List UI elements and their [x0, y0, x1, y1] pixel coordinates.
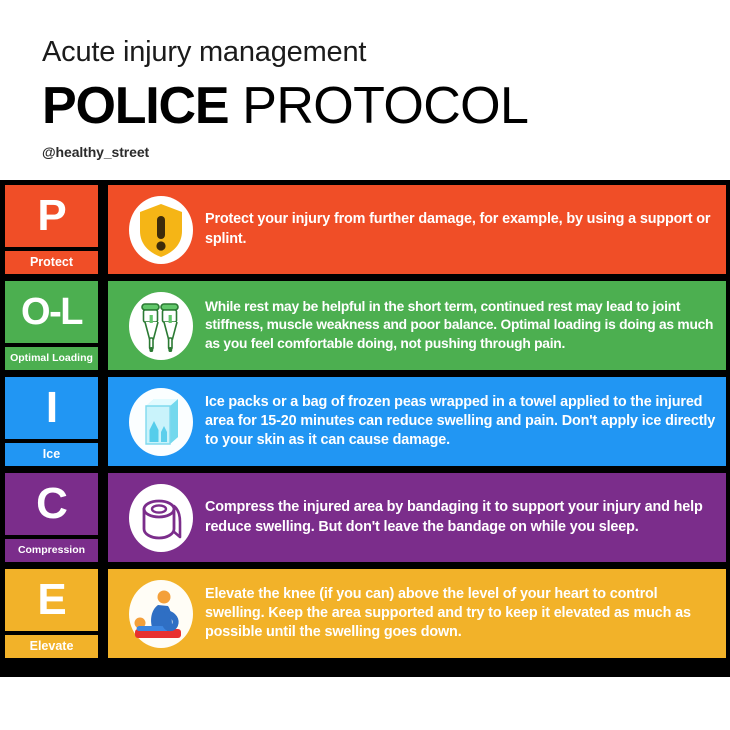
key-column-protect: P Protect: [5, 185, 98, 274]
content-panel-ice: Ice packs or a bag of frozen peas wrappe…: [108, 377, 726, 466]
content-panel-elevate: Elevate the knee (if you can) above the …: [108, 569, 726, 658]
poster-kicker: Acute injury management: [42, 38, 730, 67]
key-caption-ice: Ice: [43, 448, 60, 461]
content-panel-protect: Protect your injury from further damage,…: [108, 185, 726, 274]
content-text-ice: Ice packs or a bag of frozen peas wrappe…: [205, 393, 726, 450]
key-letter-ice: I: [46, 386, 57, 430]
key-column-elevate: E Elevate: [5, 569, 98, 658]
key-letter-elevate: E: [37, 578, 65, 622]
shield-warning-icon: [125, 193, 197, 267]
page-title-bold: POLICE: [42, 77, 228, 135]
poster-header: Acute injury management POLICE PROTOCOL …: [0, 0, 730, 180]
page-title: POLICE PROTOCOL: [42, 80, 730, 132]
key-caption-compression: Compression: [18, 545, 85, 556]
key-letter-compression: C: [36, 482, 67, 526]
key-caption-box-elevate: Elevate: [5, 635, 98, 658]
protocol-row-compression: C Compression Compress the injured a: [0, 473, 730, 562]
protocol-row-protect: P Protect Protect your injury from furth…: [0, 185, 730, 274]
key-caption-box-protect: Protect: [5, 251, 98, 274]
ice-cube-icon: [125, 385, 197, 459]
content-panel-optimal-loading: While rest may be helpful in the short t…: [108, 281, 726, 370]
key-caption-box-compression: Compression: [5, 539, 98, 562]
key-letter-box-protect: P: [5, 185, 98, 247]
key-letter-box-optimal-loading: O-L: [5, 281, 98, 343]
page-title-light: PROTOCOL: [228, 77, 528, 135]
content-panel-compression: Compress the injured area by bandaging i…: [108, 473, 726, 562]
protocol-row-elevate: E Elevate: [0, 569, 730, 658]
key-letter-optimal-loading: O-L: [21, 293, 82, 331]
bandage-roll-icon: [125, 481, 197, 555]
key-caption-box-ice: Ice: [5, 443, 98, 466]
key-column-ice: I Ice: [5, 377, 98, 466]
key-caption-box-optimal-loading: Optimal Loading: [5, 347, 98, 370]
protocol-rows-band: P Protect Protect your injury from furth…: [0, 180, 730, 677]
protocol-row-optimal-loading: O-L Optimal Loading: [0, 281, 730, 370]
key-caption-optimal-loading: Optimal Loading: [10, 353, 93, 364]
key-caption-elevate: Elevate: [30, 640, 74, 653]
content-text-protect: Protect your injury from further damage,…: [205, 210, 726, 248]
author-handle: @healthy_street: [42, 144, 730, 160]
content-text-optimal-loading: While rest may be helpful in the short t…: [205, 298, 726, 353]
key-column-optimal-loading: O-L Optimal Loading: [5, 281, 98, 370]
key-letter-protect: P: [37, 194, 65, 238]
content-text-compression: Compress the injured area by bandaging i…: [205, 498, 726, 536]
content-text-elevate: Elevate the knee (if you can) above the …: [205, 585, 726, 642]
crutches-icon: [125, 289, 197, 363]
protocol-row-ice: I Ice: [0, 377, 730, 466]
key-letter-box-elevate: E: [5, 569, 98, 631]
infographic-poster: Acute injury management POLICE PROTOCOL …: [0, 0, 730, 730]
key-column-compression: C Compression: [5, 473, 98, 562]
leg-elevation-icon: [125, 577, 197, 651]
key-letter-box-compression: C: [5, 473, 98, 535]
key-letter-box-ice: I: [5, 377, 98, 439]
key-caption-protect: Protect: [30, 256, 73, 269]
